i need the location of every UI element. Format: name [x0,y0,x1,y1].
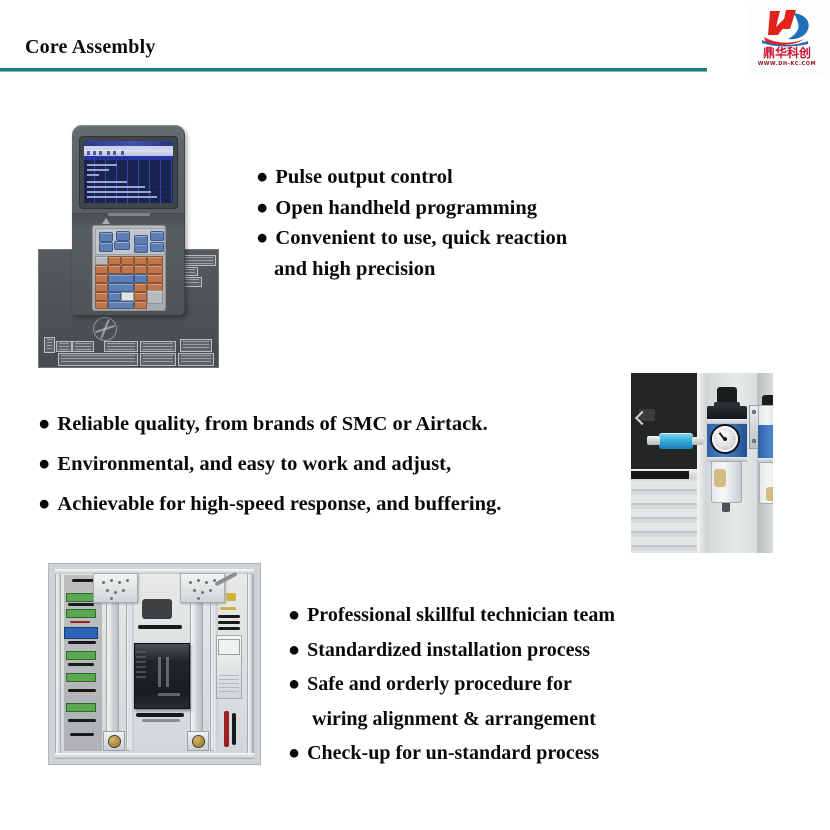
list-item-label: Open handheld programming [275,197,537,219]
motor-coupling-left [103,731,125,751]
servo-drive-unit [134,643,190,709]
wire-red-right [224,711,229,747]
key-6[interactable] [108,265,121,274]
ventilation-louvers [631,481,697,553]
slide-root: Core Assembly 鼎华科创 WWW.DH-KC.COM [0,0,830,830]
bullet-dot-icon: ● [288,667,300,702]
list-item: ●Safe and orderly procedure for [288,667,615,702]
pendant-screen-bezel [79,136,178,209]
jog-z-plus-button[interactable] [150,231,164,241]
pendant-lcd-screen [84,141,173,203]
jog-down-button[interactable] [134,244,148,253]
bullet-dot-icon: ● [256,162,268,193]
bullet-dot-icon: ● [256,193,268,224]
jog-right-button[interactable] [150,242,164,252]
page-title: Core Assembly [25,36,156,59]
list-item: ●Environmental, and easy to work and adj… [38,444,501,484]
rail-mount-plate-right [180,573,225,603]
jog-x-minus-button[interactable] [99,242,113,252]
keypad-button-grid [95,256,163,308]
terminal-block-green-1 [66,593,96,602]
bowl-drain-valve[interactable] [722,503,730,512]
key-10[interactable] [95,274,108,283]
control-cabinet-wiring-photo [48,563,261,765]
wire-black-right [232,713,236,745]
wire-yellow-1 [220,607,236,610]
cable-loop [142,599,172,619]
lubricator-oil-level [766,487,773,501]
linear-rail-left [106,577,119,751]
terminal-block-green-3 [66,651,96,660]
terminal-block-green-4 [66,673,96,682]
list-item-label: Pulse output control [275,166,452,188]
company-logo: 鼎华科创 WWW.DH-KC.COM [748,2,826,76]
wire-bundle-1 [72,579,94,582]
motor-coupling-right [187,731,209,751]
list-item: ●Achievable for high-speed response, and… [38,484,501,524]
key-14[interactable] [134,283,147,292]
key-16[interactable] [95,292,108,301]
center-wire-gray [142,719,180,722]
bullet-dot-icon: ● [288,736,300,771]
title-underline-rule [0,68,707,72]
key-5[interactable] [95,265,108,274]
handheld-teach-pendant-photo [38,125,220,370]
key-11[interactable] [134,274,147,283]
pendant-keypad [92,225,166,311]
key-2[interactable] [121,256,134,265]
door-gap-shadow [631,471,689,479]
key-8[interactable] [134,265,147,274]
logo-chinese-text: 鼎华科创 [748,47,826,60]
terminal-block-green-5 [66,703,96,712]
key-21[interactable] [134,301,147,309]
list-item: ●Standardized installation process [288,633,615,668]
rail-mount-plate-left [93,573,138,603]
gauge-hub [723,437,727,441]
list-item-continuation: and high precision [256,254,567,285]
list-item-label: Achievable for high-speed response, and … [57,493,501,515]
wire-bundle-7 [70,733,94,736]
key-9[interactable] [147,265,163,274]
key-20[interactable] [95,301,108,309]
cabinet-frame-right [247,569,253,759]
key-17[interactable] [108,292,121,301]
bullet-dot-icon: ● [38,444,50,484]
key-func-1[interactable] [95,256,108,265]
bullet-dot-icon: ● [288,598,300,633]
teach-pendant-device [72,125,185,315]
key-wide-1[interactable] [108,274,134,283]
wire-bundle-3 [68,641,96,644]
logo-h-mark-icon [756,7,818,47]
air-filter-regulator [705,387,749,517]
key-7[interactable] [121,265,134,274]
terminal-block-green-2 [66,609,96,618]
key-13[interactable] [95,283,108,292]
bullet-list-pneumatics: ●Reliable quality, from brands of SMC or… [38,404,501,524]
filter-element [714,469,726,487]
center-wire-harness-top [138,625,182,629]
regulator-adjust-knob[interactable] [717,387,737,403]
wire-bundle-6 [68,719,96,722]
lubricator-sight-dome [758,405,773,427]
pendant-brand-strip [108,213,150,216]
list-item-label: and high precision [274,258,435,280]
list-item-label: wiring alignment & arrangement [312,708,596,730]
blue-quick-coupler [659,433,693,449]
key-wide-2[interactable] [108,283,134,292]
key-4[interactable] [147,256,163,265]
key-enter[interactable] [147,290,163,304]
list-item-label: Safe and orderly procedure for [307,673,572,695]
regulator-top-block [707,406,747,420]
list-item-label: Reliable quality, from brands of SMC or … [57,413,487,435]
pneumatic-frl-unit-photo [631,373,773,553]
cabinet-frame-left [55,569,61,759]
jog-up-button[interactable] [116,231,130,241]
list-item-label: Check-up for un-standard process [307,742,599,764]
air-lubricator [758,395,773,517]
wire-bundle-4 [68,663,94,666]
wire-red-1 [70,621,90,623]
jog-left-button[interactable] [114,241,130,250]
key-wide-3[interactable] [108,301,134,309]
wire-bundle-r3 [218,627,240,630]
list-item-label: Standardized installation process [307,639,590,661]
bullet-dot-icon: ● [38,484,50,524]
key-18[interactable] [121,292,134,301]
bullet-dot-icon: ● [288,633,300,668]
bullet-dot-icon: ● [256,223,268,254]
list-item-continuation: wiring alignment & arrangement [288,702,615,737]
bullet-dot-icon: ● [38,404,50,444]
cabinet-frame-bottom [55,753,254,758]
wire-bundle-r1 [218,615,240,618]
guide-post-left [126,577,134,751]
list-item: ●Professional skillful technician team [288,598,615,633]
pressure-gauge [712,426,738,452]
wire-bundle-5 [68,689,96,692]
list-item: ●Convenient to use, quick reaction [256,223,567,254]
key-12[interactable] [147,274,163,283]
wire-bundle-2 [68,603,94,606]
bullet-list-wiring: ●Professional skillful technician team ●… [288,598,615,771]
lubricator-body [758,425,773,459]
list-item: ●Open handheld programming [256,193,567,224]
panel-brand-logo-icon [93,317,117,341]
sensor-yellow [226,593,236,601]
center-wire-harness-bottom [136,713,184,717]
list-item: ●Check-up for un-standard process [288,736,615,771]
list-item-label: Environmental, and easy to work and adju… [57,453,451,475]
warning-triangle-icon [102,218,110,224]
key-1[interactable] [108,256,121,265]
wire-bundle-r2 [218,621,240,624]
list-item-label: Professional skillful technician team [307,604,615,626]
list-item: ●Pulse output control [256,162,567,193]
bullet-list-teach-pendant: ●Pulse output control ●Open handheld pro… [256,162,567,284]
key-19[interactable] [134,292,147,301]
relay-blue [64,627,98,639]
list-item: ●Reliable quality, from brands of SMC or… [38,404,501,444]
list-item-label: Convenient to use, quick reaction [275,227,567,249]
jog-x-plus-button[interactable] [99,232,113,242]
linear-rail-right [190,577,203,751]
key-3[interactable] [134,256,147,265]
psu-terminal-strip [218,639,240,655]
keypad-jog-cluster [95,228,165,255]
screen-data-grid [84,160,173,203]
logo-website-text: WWW.DH-KC.COM [748,61,826,67]
